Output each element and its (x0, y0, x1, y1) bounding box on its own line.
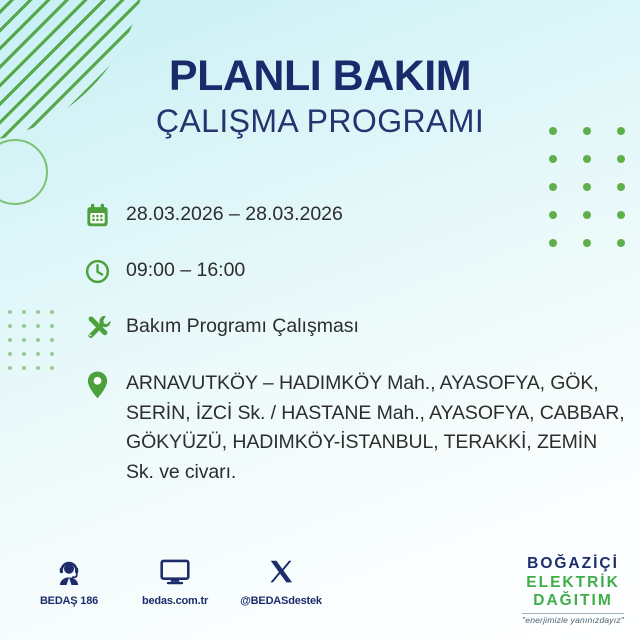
contact-website[interactable]: bedas.com.tr (134, 554, 216, 607)
circle-outline-decoration (0, 139, 48, 205)
bedas-logo: BOĞAZİÇİ ELEKTRİK DAĞITIM "enerjimizle y… (522, 556, 624, 624)
logo-line-bogazici: BOĞAZİÇİ (522, 556, 624, 572)
info-row-time: 09:00 – 16:00 (84, 254, 630, 288)
location-pin-icon (84, 366, 126, 402)
info-row-date: 28.03.2026 – 28.03.2026 (84, 198, 630, 232)
maintenance-address: ARNAVUTKÖY – HADIMKÖY Mah., AYASOFYA, GÖ… (126, 366, 626, 488)
contact-phone-label: BEDAŞ 186 (28, 595, 110, 607)
contact-phone[interactable]: BEDAŞ 186 (28, 554, 110, 607)
x-twitter-icon (240, 554, 322, 590)
tools-icon (84, 310, 126, 344)
logo-tagline: "enerjimizle yanınızdayız" (522, 613, 624, 625)
planned-maintenance-poster: PLANLI BAKIM ÇALIŞMA PROGRAMI (0, 0, 640, 640)
page-title: PLANLI BAKIM (0, 54, 640, 99)
poster-footer: BEDAŞ 186 bedas.com.tr (0, 554, 640, 624)
contact-social-label: @BEDASdestek (240, 595, 322, 607)
maintenance-time-range: 09:00 – 16:00 (126, 254, 245, 284)
contact-social[interactable]: @BEDASdestek (240, 554, 322, 607)
info-row-worktype: Bakım Programı Çalışması (84, 310, 630, 344)
logo-line-elektrik: ELEKTRİK (522, 575, 624, 591)
call-center-agent-icon (28, 554, 110, 590)
contact-website-label: bedas.com.tr (134, 595, 216, 607)
maintenance-work-type: Bakım Programı Çalışması (126, 310, 359, 340)
page-subtitle: ÇALIŞMA PROGRAMI (0, 103, 640, 140)
info-list: 28.03.2026 – 28.03.2026 09:00 – 16:00 Ba… (84, 198, 630, 488)
dot-grid-left-decoration (8, 310, 64, 380)
monitor-icon (134, 554, 216, 590)
poster-header: PLANLI BAKIM ÇALIŞMA PROGRAMI (0, 54, 640, 140)
calendar-icon (84, 198, 126, 232)
info-row-address: ARNAVUTKÖY – HADIMKÖY Mah., AYASOFYA, GÖ… (84, 366, 630, 488)
footer-contacts: BEDAŞ 186 bedas.com.tr (28, 554, 322, 607)
logo-line-dagitim: DAĞITIM (522, 593, 624, 609)
maintenance-date-range: 28.03.2026 – 28.03.2026 (126, 198, 343, 228)
clock-icon (84, 254, 126, 288)
